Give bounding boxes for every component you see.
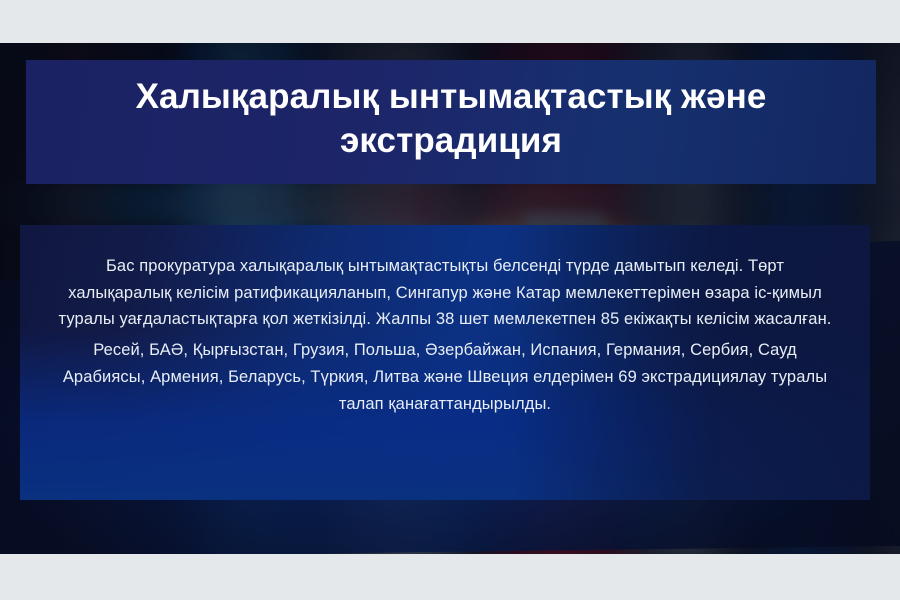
body-paragraph-1: Бас прокуратура халықаралық ынтымақтасты… (54, 253, 836, 333)
body-panel: Бас прокуратура халықаралық ынтымақтасты… (20, 225, 870, 500)
slide-canvas: Халықаралық ынтымақтастық және экстрадиц… (0, 0, 900, 600)
body-content: Бас прокуратура халықаралық ынтымақтасты… (20, 225, 870, 437)
slide-title: Халықаралық ынтымақтастық және экстрадиц… (54, 75, 848, 163)
title-panel: Халықаралық ынтымақтастық және экстрадиц… (26, 60, 876, 184)
body-paragraph-2: Ресей, БАӘ, Қырғызстан, Грузия, Польша, … (54, 337, 836, 417)
